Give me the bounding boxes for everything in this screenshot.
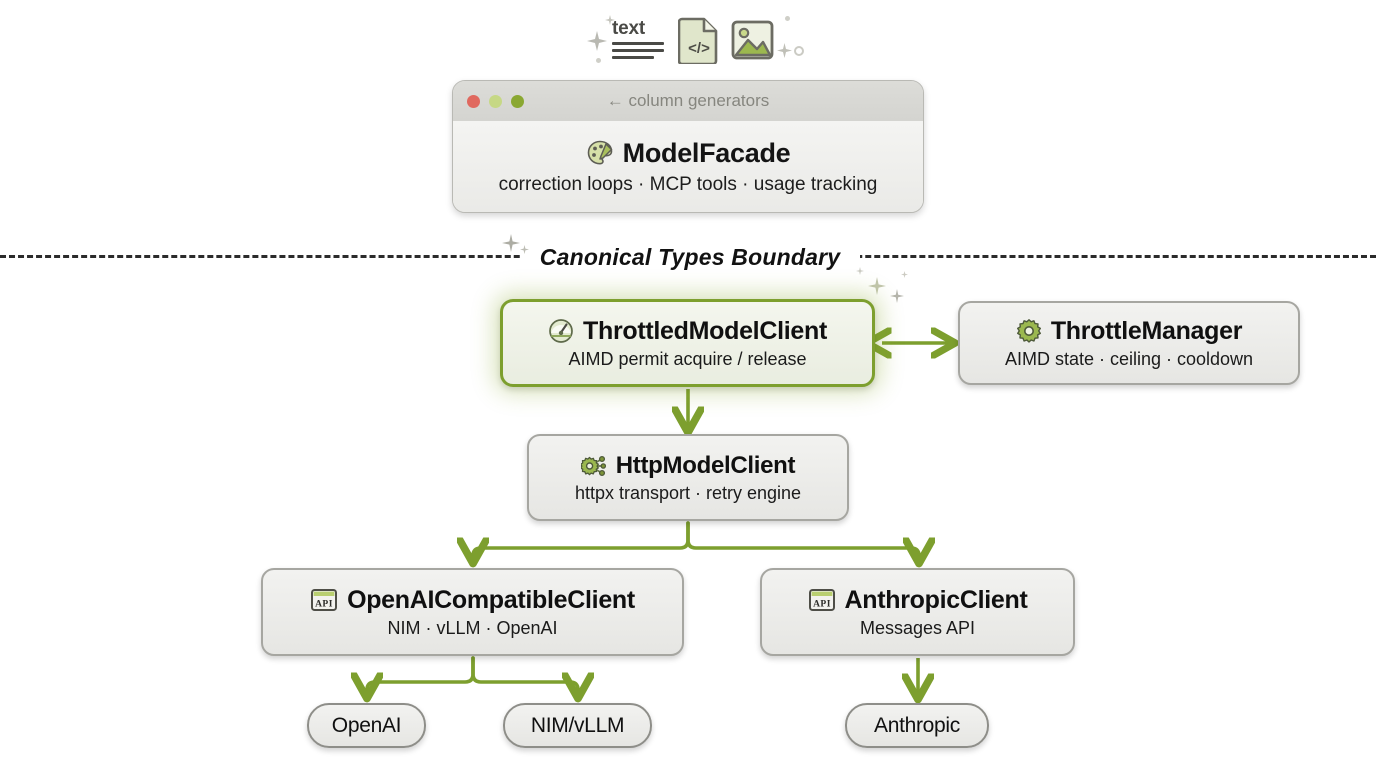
artist-palette-icon (586, 139, 614, 167)
image-icon (730, 18, 775, 62)
text-icon-label: text (612, 18, 645, 40)
node-title-row: ThrottleManager (1016, 317, 1242, 346)
node-subtitle: httpx transport · retry engine (575, 483, 801, 504)
decorative-icon-strip: text </> (580, 10, 800, 72)
svg-text:API: API (315, 600, 333, 610)
node-throttle-manager[interactable]: ThrottleManager AIMD state · ceiling · c… (958, 301, 1300, 385)
window-body: ModelFacade correction loops · MCP tools… (453, 121, 923, 212)
sparkle-icon (889, 288, 905, 304)
sparkle-icon (776, 42, 793, 59)
node-anthropic-client[interactable]: API AnthropicClient Messages API (760, 568, 1075, 656)
node-title: OpenAICompatibleClient (347, 586, 635, 615)
svg-text:</>: </> (688, 40, 710, 57)
model-facade-title-row: ModelFacade (586, 138, 791, 169)
sparkle-icon (866, 275, 888, 297)
node-subtitle: AIMD permit acquire / release (568, 349, 806, 370)
model-facade-subtitle: correction loops · MCP tools · usage tra… (499, 174, 878, 196)
api-badge-icon: API (310, 587, 338, 613)
gauge-icon (548, 318, 574, 344)
sparkle-ring-icon (794, 46, 804, 56)
gear-icon (1016, 318, 1042, 344)
sparkle-icon (855, 266, 865, 276)
model-facade-window[interactable]: ← column generators ModelFacade correcti… (452, 80, 924, 213)
node-title-row: API AnthropicClient (808, 586, 1028, 615)
model-facade-title: ModelFacade (623, 138, 791, 169)
node-title: ThrottledModelClient (583, 317, 827, 346)
node-subtitle: Messages API (860, 618, 975, 639)
node-title: HttpModelClient (616, 452, 795, 480)
node-nim-vllm-provider[interactable]: NIM/vLLM (503, 703, 652, 748)
edge-openai-compat-nimvllm (473, 658, 578, 695)
node-title-row: API OpenAICompatibleClient (310, 586, 635, 615)
sparkle-dot-icon (596, 58, 601, 63)
node-title-row: ThrottledModelClient (548, 317, 827, 346)
node-title: NIM/vLLM (531, 714, 624, 738)
svg-text:API: API (813, 600, 831, 610)
canonical-types-boundary-label: Canonical Types Boundary (520, 240, 860, 274)
node-subtitle: NIM · vLLM · OpenAI (387, 618, 557, 639)
node-throttled-model-client[interactable]: ThrottledModelClient AIMD permit acquire… (500, 299, 875, 387)
node-anthropic-provider[interactable]: Anthropic (845, 703, 989, 748)
sparkle-icon (584, 28, 610, 54)
api-badge-icon: API (808, 587, 836, 613)
edge-http-anthropic-client (688, 523, 919, 560)
node-title: AnthropicClient (845, 586, 1028, 615)
sparkle-icon (519, 244, 530, 255)
window-title: ← column generators (453, 91, 923, 111)
sparkle-icon (900, 270, 909, 279)
code-file-icon: </> (678, 16, 720, 64)
edge-http-openai-compat (473, 523, 688, 560)
node-openai-compatible-client[interactable]: API OpenAICompatibleClient NIM · vLLM · … (261, 568, 684, 656)
node-subtitle: AIMD state · ceiling · cooldown (1005, 349, 1253, 370)
node-title: Anthropic (874, 714, 960, 738)
node-title: OpenAI (332, 714, 401, 738)
node-openai-provider[interactable]: OpenAI (307, 703, 426, 748)
window-titlebar[interactable]: ← column generators (453, 81, 923, 122)
node-http-model-client[interactable]: HttpModelClient httpx transport · retry … (527, 434, 849, 521)
edge-openai-compat-openai (367, 658, 473, 695)
node-title: ThrottleManager (1051, 317, 1242, 346)
network-nodes-icon (581, 453, 607, 479)
node-title-row: HttpModelClient (581, 452, 795, 480)
sparkle-dot-icon (785, 16, 790, 21)
diagram-canvas: text </> ← column generators (0, 0, 1376, 768)
text-icon: text (610, 18, 668, 64)
